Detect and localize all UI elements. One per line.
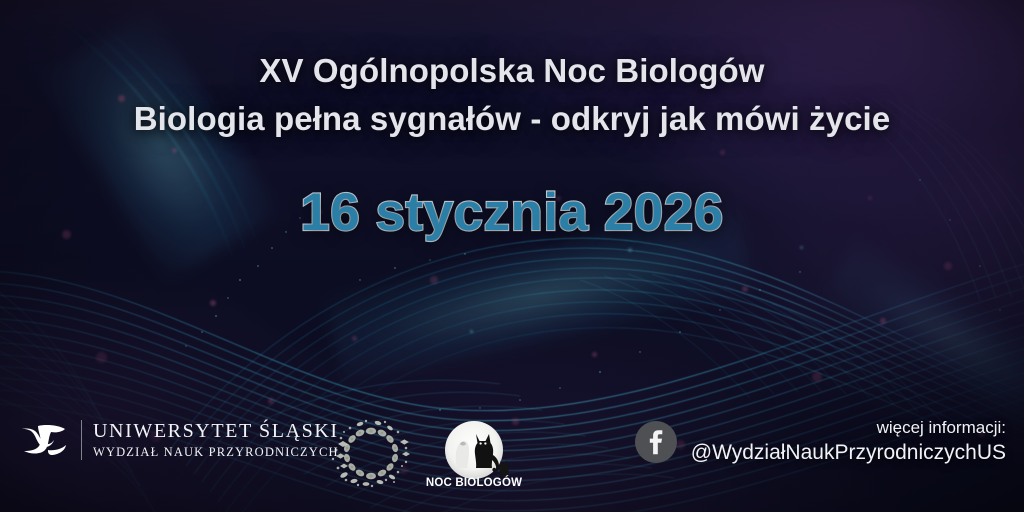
- social-block[interactable]: więcej informacji: @WydziałNaukPrzyrodni…: [634, 417, 1006, 466]
- footer-bar: UNIWERSYTET ŚLĄSKI WYDZIAŁ NAUK PRZYRODN…: [0, 400, 1024, 512]
- university-logo[interactable]: UNIWERSYTET ŚLĄSKI WYDZIAŁ NAUK PRZYRODN…: [18, 420, 339, 460]
- noc-biologow-logo[interactable]: NOC BIOLOGÓW: [424, 416, 524, 490]
- title-line-1: XV Ogólnopolska Noc Biologów: [0, 52, 1024, 91]
- ring-particles: [332, 420, 410, 487]
- university-faculty: WYDZIAŁ NAUK PRZYRODNICZYCH: [93, 445, 339, 460]
- event-date: 16 stycznia 2026: [0, 182, 1024, 243]
- microorganism-ring-logo[interactable]: [330, 418, 412, 488]
- university-name: UNIWERSYTET ŚLĄSKI: [93, 420, 339, 442]
- small-cat-silhouette: [499, 460, 508, 477]
- title-line-2: Biologia pełna sygnałów - odkryj jak mów…: [0, 100, 1024, 139]
- social-handle[interactable]: @WydziałNaukPrzyrodniczychUS: [691, 439, 1006, 466]
- poster-canvas: XV Ogólnopolska Noc Biologów Biologia pe…: [0, 0, 1024, 512]
- university-mark-icon: [18, 420, 70, 460]
- more-info-label: więcej informacji:: [691, 417, 1006, 439]
- noc-biologow-wordmark: NOC BIOLOGÓW: [426, 476, 522, 489]
- title-block: XV Ogólnopolska Noc Biologów Biologia pe…: [0, 52, 1024, 139]
- facebook-icon[interactable]: [634, 420, 678, 464]
- logo-divider: [81, 420, 82, 460]
